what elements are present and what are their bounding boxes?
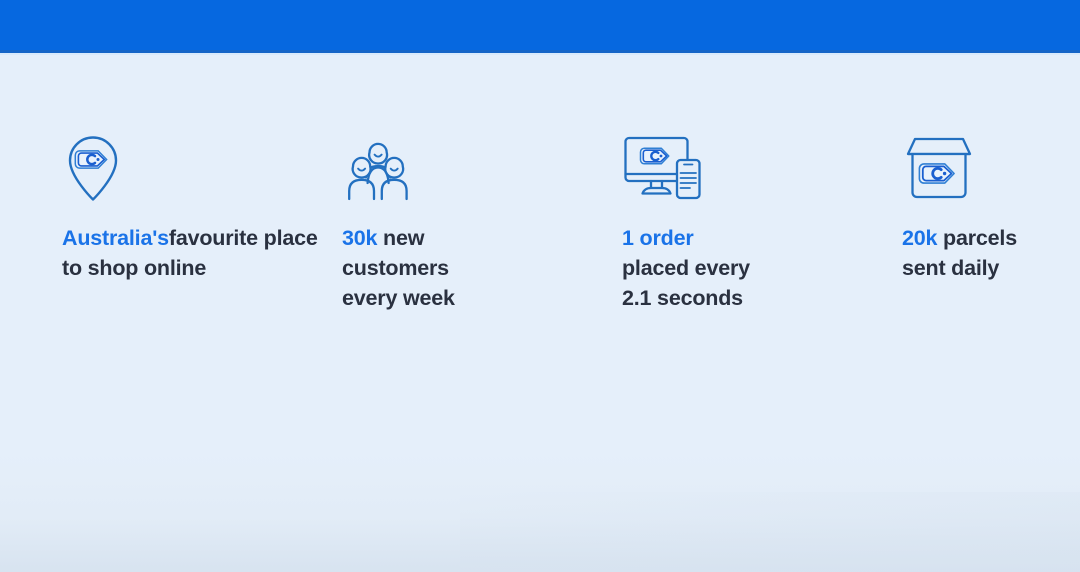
stat-highlight: Australia's <box>62 226 169 250</box>
parcel-box-with-catch-logo-icon <box>902 133 980 201</box>
stat-highlight: 20k <box>902 226 937 250</box>
desktop-monitor-and-phone-icon <box>622 133 704 201</box>
stat-highlight: 1 order <box>622 226 694 250</box>
top-blue-header-bar <box>0 0 1080 53</box>
stat-rest: placed every 2.1 seconds <box>622 256 750 310</box>
stat-item-20k-parcels-sent-daily: 20k parcels sent daily <box>902 133 1080 283</box>
bottom-gradient-wash <box>0 452 1080 572</box>
three-people-group-icon <box>342 133 412 201</box>
stat-label: 20k parcels sent daily <box>902 223 1017 283</box>
stat-label: 1 order placed every 2.1 seconds <box>622 223 750 313</box>
location-pin-with-catch-logo-icon <box>62 133 124 201</box>
stats-banner-page: Australia'sfavourite place to shop onlin… <box>0 0 1080 572</box>
header-hairline-divider <box>0 53 1080 55</box>
stat-highlight: 30k <box>342 226 377 250</box>
stat-item-30k-new-customers: 30k new customers every week <box>342 133 622 313</box>
bottom-right-gradient-wash <box>460 492 1080 572</box>
stat-label: Australia'sfavourite place to shop onlin… <box>62 223 318 283</box>
stat-label: 30k new customers every week <box>342 223 455 313</box>
stat-item-1-order-every-2-1-seconds: 1 order placed every 2.1 seconds <box>622 133 902 313</box>
stats-row: Australia'sfavourite place to shop onlin… <box>62 133 1080 313</box>
stat-item-australias-favourite-place: Australia'sfavourite place to shop onlin… <box>62 133 342 283</box>
